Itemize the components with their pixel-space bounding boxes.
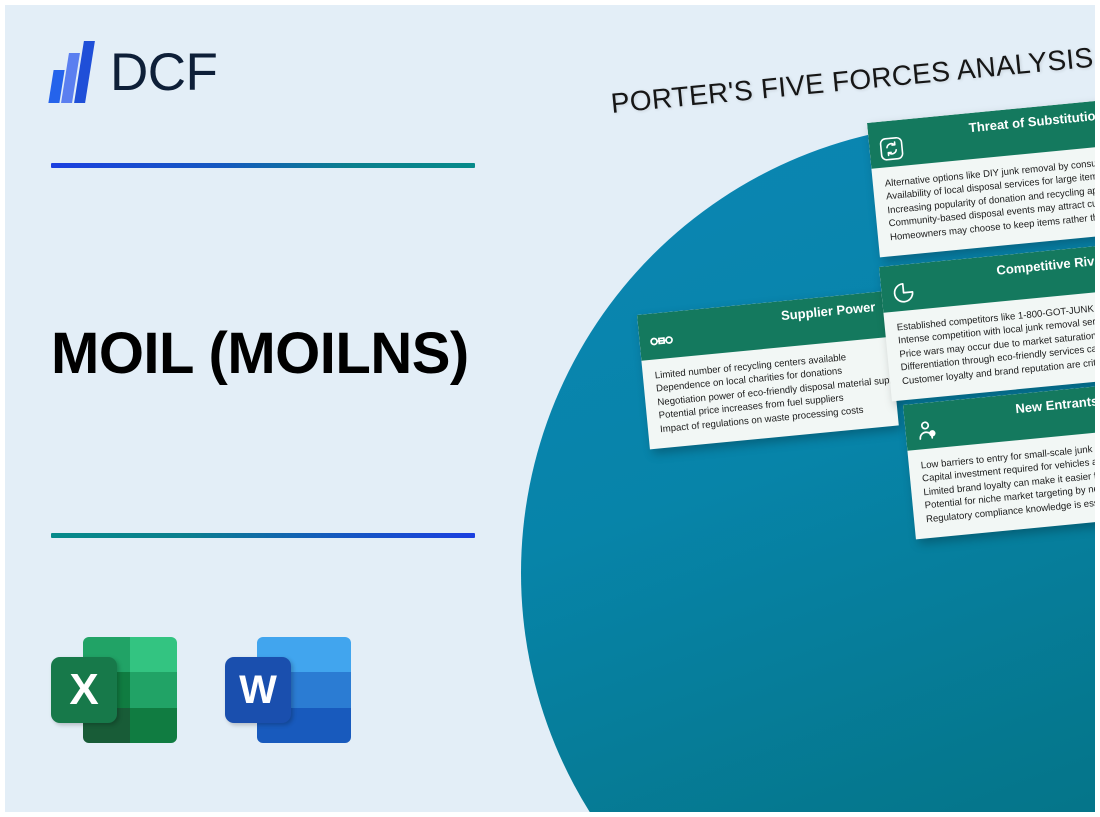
user-icon [914,418,940,444]
brand-logo[interactable]: DCF [50,41,217,103]
force-card-supplier[interactable]: Supplier Power Limited number of recycli… [637,291,899,449]
page-panel: DCF MOIL (MOILNS) X W [5,5,1095,812]
export-icons: X W [51,635,351,745]
force-card-title: Threat of Substitution [968,107,1095,135]
screenshot-canvas: DCF MOIL (MOILNS) X W [0,0,1100,817]
word-badge-letter: W [225,657,291,723]
force-card-title: Competitive Rivalry [996,251,1095,278]
force-card-substitution[interactable]: Threat of Substitution Alternative optio… [867,99,1095,257]
divider-bottom [51,533,475,538]
force-card-entrants[interactable]: New Entrants Threat Low barriers to entr… [903,381,1095,539]
page-title: MOIL (MOILNS) [51,320,469,387]
handshake-icon [648,328,674,354]
divider-top [51,163,475,168]
force-card-title: Supplier Power [780,299,876,323]
logo-bar-3 [74,41,95,103]
force-card-title: New Entrants Threat [1015,389,1095,416]
excel-badge-letter: X [51,657,117,723]
recycle-icon [878,136,904,162]
word-icon[interactable]: W [225,635,351,745]
force-card-rivalry[interactable]: Competitive Rivalry Established competit… [879,243,1095,401]
bar-chart-mark-icon [50,41,96,103]
pie-chart-icon [890,280,916,306]
excel-icon[interactable]: X [51,635,177,745]
brand-name: DCF [110,46,217,99]
